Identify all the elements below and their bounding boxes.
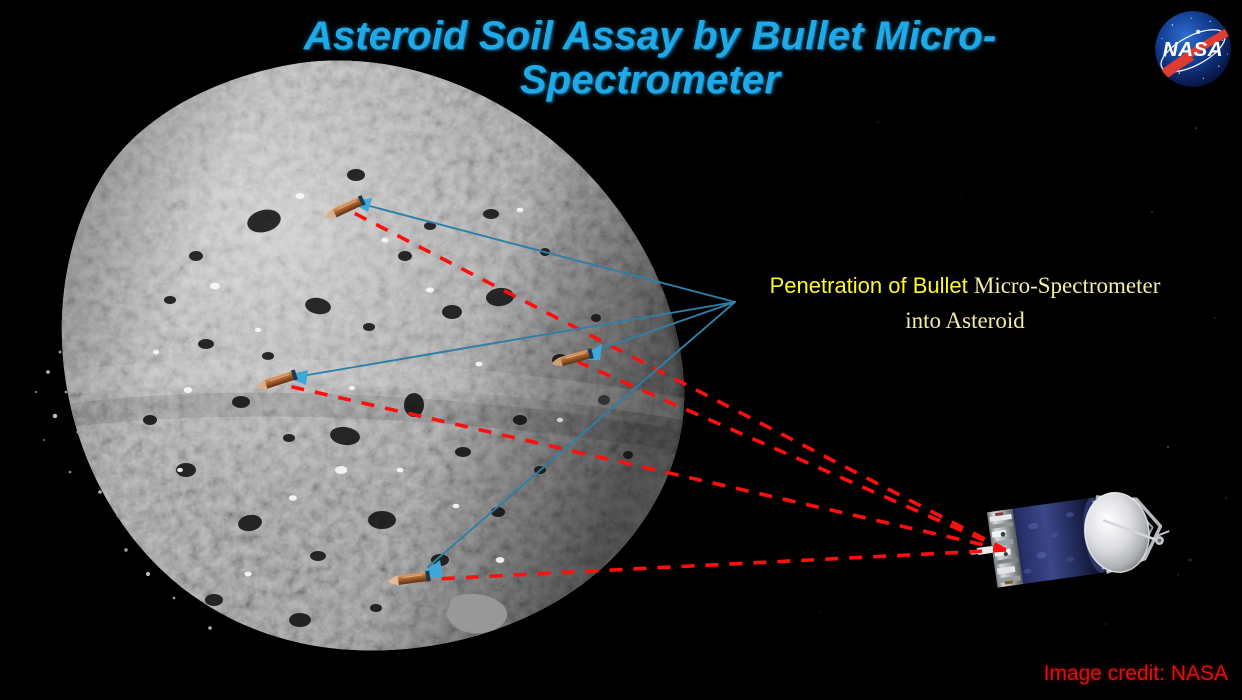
nasa-logo: NASA [1150, 6, 1236, 92]
scene-graphic [0, 0, 1242, 700]
nasa-logo-wordmark: NASA [1163, 38, 1223, 61]
slide-canvas: Asteroid Soil Assay by Bullet Micro- Spe… [0, 0, 1242, 700]
image-credit: Image credit: NASA [1044, 662, 1228, 686]
